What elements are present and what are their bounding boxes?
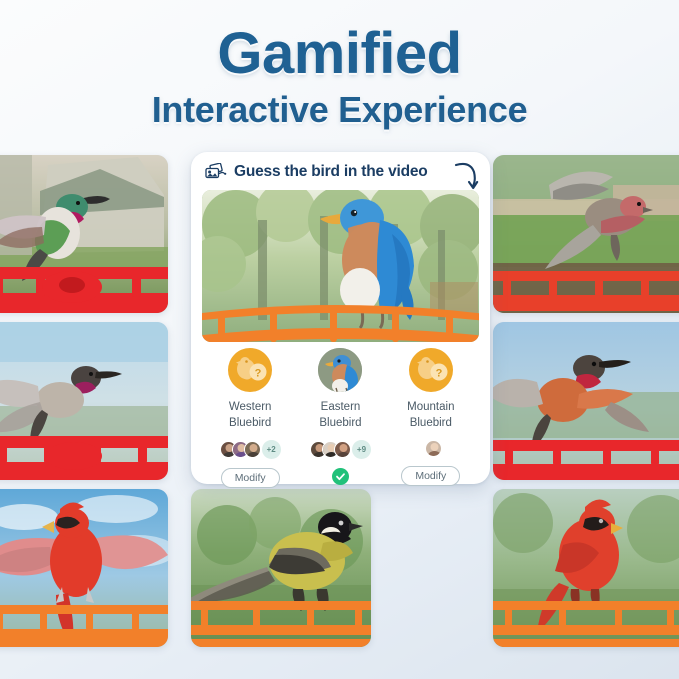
page-title: Gamified (0, 24, 679, 83)
bird-option-western-bluebird[interactable]: ? Western Bluebird +2 Modify (208, 348, 292, 488)
gallery-tile-mid-left[interactable] (0, 322, 168, 480)
modify-button[interactable]: Modify (221, 468, 280, 488)
avatar (244, 441, 261, 458)
annas-hummingbird-photo (0, 322, 168, 480)
gallery-tile-bottom-left[interactable] (0, 489, 168, 647)
label-line-2: Bluebird (229, 417, 271, 429)
hummingbird-red-feeder-photo (0, 155, 168, 313)
voter-avatars[interactable]: +2 (220, 440, 281, 459)
gallery-tile-mid-right[interactable] (493, 322, 679, 480)
avatar-overflow-badge: +2 (262, 440, 281, 459)
bird-option-label: Mountain Bluebird (407, 400, 454, 431)
check-circle-icon (332, 468, 349, 485)
gallery-tile-top-left[interactable] (0, 155, 168, 313)
bird-question-icon: ? (409, 348, 453, 392)
gallery-tile-bottom-right[interactable] (493, 489, 679, 647)
page-subtitle: Interactive Experience (0, 89, 679, 131)
avatar (334, 441, 351, 458)
video-preview[interactable] (202, 190, 479, 342)
rufous-hummingbird-photo (493, 322, 679, 480)
cardinal-perched-photo (493, 489, 679, 647)
bird-question-icon: ? (228, 348, 272, 392)
label-line-1: Mountain (407, 401, 454, 413)
label-line-1: Western (229, 401, 272, 413)
voter-avatars[interactable] (425, 440, 437, 457)
bird-option-label: Western Bluebird (229, 400, 272, 431)
svg-text:?: ? (435, 368, 442, 380)
bird-option-eastern-bluebird[interactable]: Eastern Bluebird +9 (298, 348, 382, 485)
guess-the-bird-card: Guess the bird in the video (191, 152, 490, 484)
label-line-2: Bluebird (319, 417, 361, 429)
gallery-tile-bottom-center[interactable] (191, 489, 371, 647)
finch-red-feeder-photo (493, 155, 679, 313)
svg-text:?: ? (255, 368, 262, 380)
photo-cards-icon (205, 163, 227, 181)
gallery-tile-top-right[interactable] (493, 155, 679, 313)
avatar-overflow-badge: +9 (352, 440, 371, 459)
page-heading: Gamified Interactive Experience (0, 24, 679, 131)
voter-avatars[interactable]: +9 (310, 440, 371, 459)
bird-photo-icon (318, 348, 362, 392)
avatar (425, 440, 442, 457)
bird-option-label: Eastern Bluebird (319, 400, 361, 431)
cardinal-wings-spread-photo (0, 489, 168, 647)
card-header: Guess the bird in the video (191, 152, 490, 191)
bird-options-list: ? Western Bluebird +2 Modify (191, 348, 490, 488)
great-tit-photo (191, 489, 371, 647)
card-title: Guess the bird in the video (234, 163, 428, 181)
bird-option-mountain-bluebird[interactable]: ? Mountain Bluebird Modify (389, 348, 473, 486)
label-line-1: Eastern (321, 401, 361, 413)
label-line-2: Bluebird (410, 417, 452, 429)
modify-button[interactable]: Modify (401, 466, 460, 486)
